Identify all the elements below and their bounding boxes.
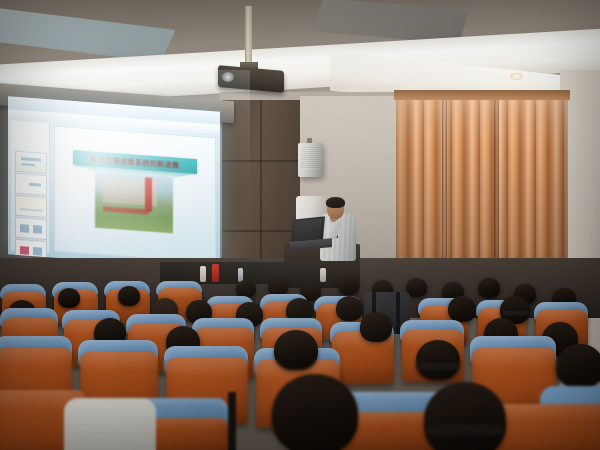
presenter-hair — [326, 197, 345, 208]
wall-speaker — [298, 143, 322, 177]
slide-thumbnail — [15, 151, 47, 174]
slide-thumbnail — [15, 173, 47, 196]
water-bottle — [320, 268, 326, 282]
ppt-thumbnail-panel — [11, 120, 50, 253]
audience-head — [478, 278, 500, 298]
audience-head — [424, 382, 506, 450]
photo-scene: 数字光栅成像系统的新进展 — [0, 0, 600, 450]
downlight-icon — [510, 73, 523, 80]
projector-lens-icon — [222, 72, 234, 82]
slide-photo — [95, 172, 173, 234]
audience-head — [416, 340, 460, 380]
projection-screen: 数字光栅成像系统的新进展 — [8, 96, 220, 270]
audience-head — [274, 330, 318, 370]
audience-head — [360, 312, 392, 342]
laptop-screen — [293, 218, 322, 241]
eyeglasses-icon — [418, 362, 460, 370]
ppt-current-slide: 数字光栅成像系统的新进展 — [54, 126, 216, 264]
audience-head — [338, 276, 359, 295]
audience-head — [118, 286, 140, 306]
curtain-rail — [394, 90, 570, 100]
water-bottle — [200, 266, 206, 282]
seat-gap — [228, 392, 236, 450]
audience-head — [336, 296, 363, 321]
speaker-grille-icon — [301, 147, 319, 169]
eyeglasses-icon — [426, 424, 504, 436]
slide-thumbnail — [15, 217, 47, 240]
slide-photo-caption — [103, 206, 149, 214]
audience-head — [448, 296, 476, 322]
red-carton — [212, 264, 219, 282]
slide-thumbnail — [15, 195, 47, 218]
slide-photo-banner — [145, 177, 152, 212]
audience-head — [556, 344, 600, 388]
audience-shoulders — [64, 398, 156, 450]
audience-head — [58, 288, 80, 308]
eyeglasses-icon — [502, 310, 530, 316]
audience-head — [272, 374, 358, 450]
